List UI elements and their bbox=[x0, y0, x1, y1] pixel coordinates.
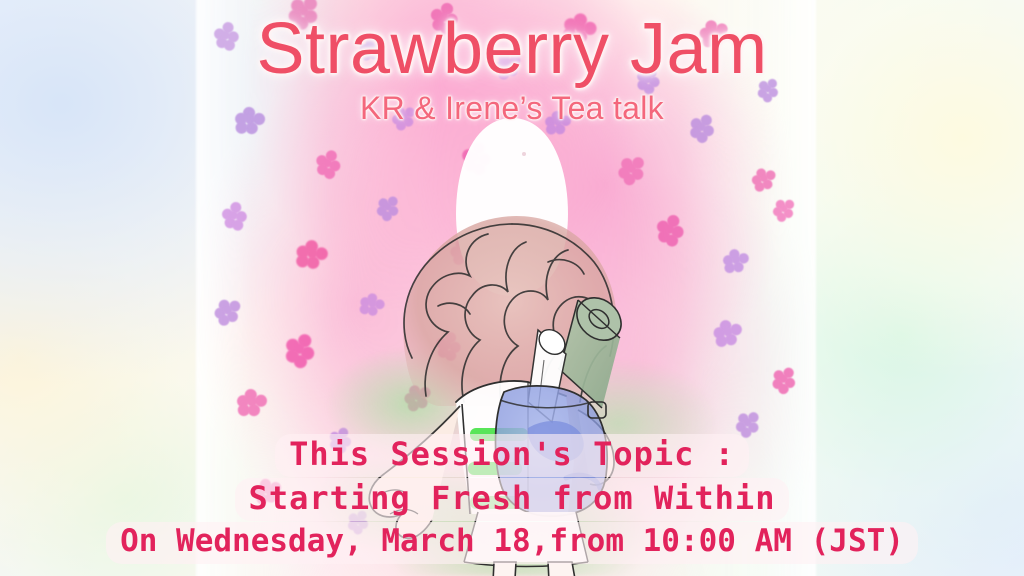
cherry-blossom-icon bbox=[768, 362, 802, 396]
poster-subtitle: KR & Irene’s Tea talk bbox=[0, 90, 1024, 127]
cherry-blossom-icon bbox=[220, 200, 250, 230]
poster-canvas: Strawberry Jam KR & Irene’s Tea talk Thi… bbox=[0, 0, 1024, 576]
topic-label-row: This Session's Topic : bbox=[0, 434, 1024, 477]
topic-title-row: Starting Fresh from Within bbox=[0, 478, 1024, 521]
cherry-blossom-icon bbox=[749, 163, 781, 195]
schedule-text: On Wednesday, March 18,from 10:00 AM (JS… bbox=[106, 522, 918, 564]
session-info-block: This Session's Topic : Starting Fresh fr… bbox=[0, 434, 1024, 564]
cherry-blossom-icon bbox=[769, 193, 800, 224]
cherry-blossom-icon bbox=[312, 146, 346, 180]
cherry-blossom-icon bbox=[236, 386, 270, 420]
cherry-blossom-icon bbox=[297, 239, 329, 271]
cherry-blossom-icon bbox=[721, 245, 752, 276]
white-boots bbox=[486, 562, 588, 576]
topic-label: This Session's Topic : bbox=[275, 434, 749, 477]
cherry-blossom-icon bbox=[211, 293, 247, 329]
poster-title: Strawberry Jam bbox=[0, 8, 1024, 90]
schedule-row: On Wednesday, March 18,from 10:00 AM (JS… bbox=[0, 522, 1024, 564]
topic-title: Starting Fresh from Within bbox=[235, 478, 790, 521]
